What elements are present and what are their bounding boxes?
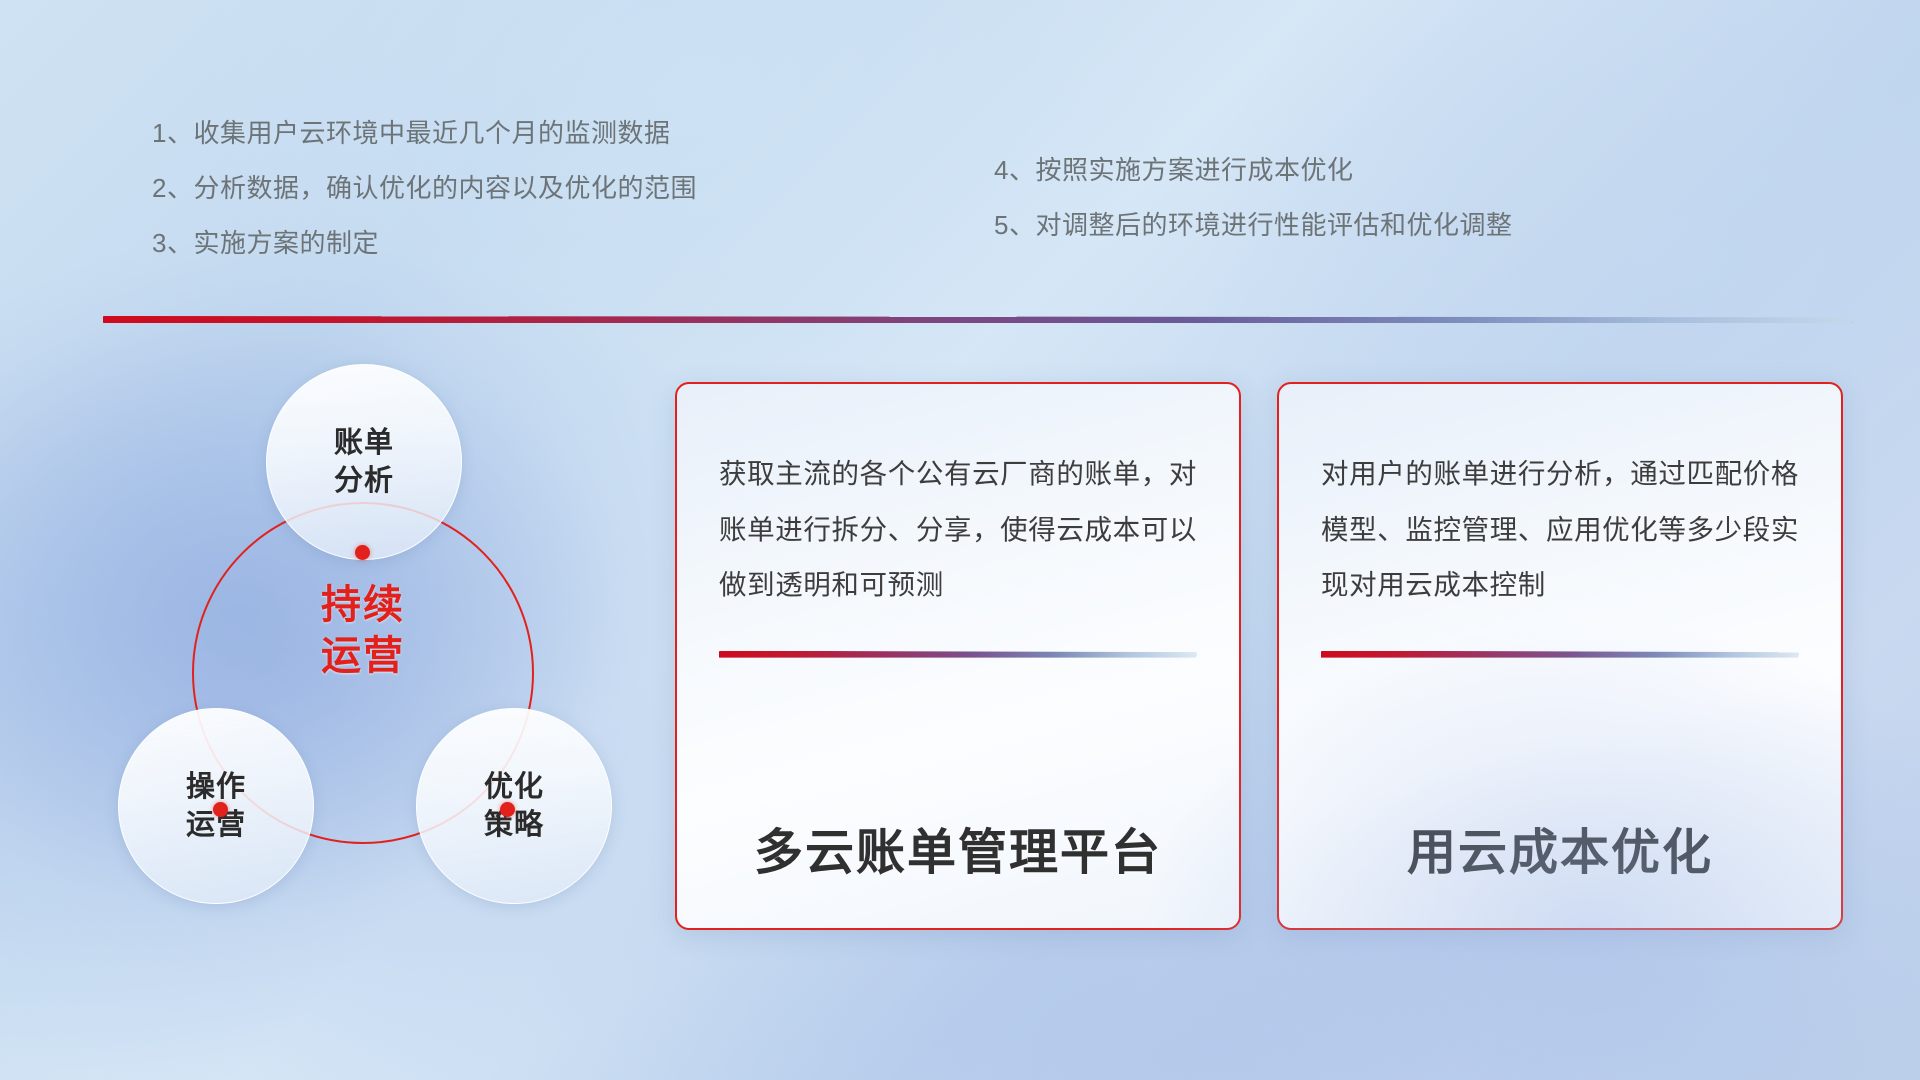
card-divider-rule <box>719 651 1197 658</box>
bullet-item: 2、分析数据，确认优化的内容以及优化的范围 <box>152 175 697 201</box>
bullet-item: 5、对调整后的环境进行性能评估和优化调整 <box>994 212 1512 238</box>
bullet-list-right: 4、按照实施方案进行成本优化 5、对调整后的环境进行性能评估和优化调整 <box>994 157 1512 267</box>
bullet-list-left: 1、收集用户云环境中最近几个月的监测数据 2、分析数据，确认优化的内容以及优化的… <box>152 120 697 285</box>
card-divider-rule <box>1321 651 1799 658</box>
venn-connector-dot-top <box>355 545 370 560</box>
card-title: 用云成本优化 <box>1321 813 1799 884</box>
card-body-text: 对用户的账单进行分析，通过匹配价格模型、监控管理、应用优化等多少段实现对用云成本… <box>1321 446 1799 613</box>
card-body-text: 获取主流的各个公有云厂商的账单，对账单进行拆分、分享，使得云成本可以做到透明和可… <box>719 446 1197 613</box>
card-title: 多云账单管理平台 <box>719 813 1197 884</box>
slide-canvas: 1、收集用户云环境中最近几个月的监测数据 2、分析数据，确认优化的内容以及优化的… <box>0 0 1920 1080</box>
bullet-item: 1、收集用户云环境中最近几个月的监测数据 <box>152 120 697 146</box>
bullet-item: 4、按照实施方案进行成本优化 <box>994 157 1512 183</box>
venn-center-label: 持续 运营 <box>192 580 534 682</box>
venn-connector-dot-bottom-left <box>213 802 228 817</box>
venn-connector-dot-bottom-right <box>500 802 515 817</box>
venn-node-label: 账单 分析 <box>334 424 394 501</box>
section-divider-rule <box>103 316 1853 323</box>
continuous-operation-venn-diagram: 账单 分析 操作 运营 优化 策略 持续 运营 <box>100 340 620 960</box>
info-card-multi-cloud-billing-platform[interactable]: 获取主流的各个公有云厂商的账单，对账单进行拆分、分享，使得云成本可以做到透明和可… <box>675 382 1241 930</box>
bullet-item: 3、实施方案的制定 <box>152 230 697 256</box>
venn-node-billing-analysis[interactable]: 账单 分析 <box>266 364 462 560</box>
info-card-cloud-cost-optimization[interactable]: 对用户的账单进行分析，通过匹配价格模型、监控管理、应用优化等多少段实现对用云成本… <box>1277 382 1843 930</box>
